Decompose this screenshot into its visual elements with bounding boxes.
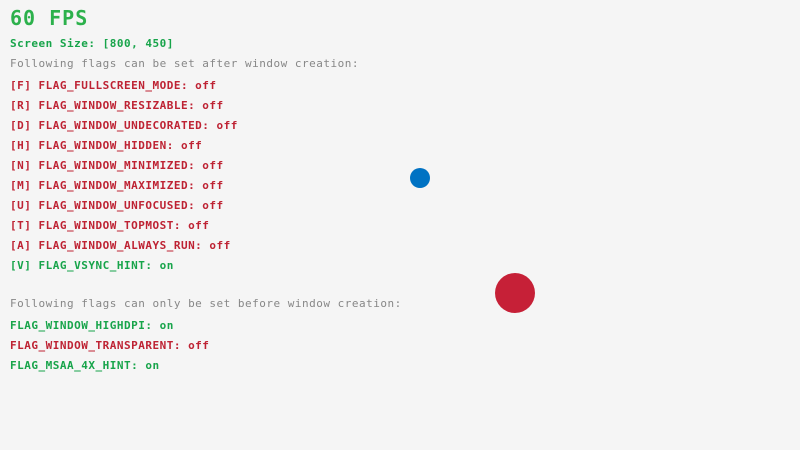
flag-row-flag-window-resizable[interactable]: [R] FLAG_WINDOW_RESIZABLE: off bbox=[10, 100, 224, 111]
fps-counter: 60 FPS bbox=[10, 8, 88, 28]
flag-row-flag-window-topmost[interactable]: [T] FLAG_WINDOW_TOPMOST: off bbox=[10, 220, 209, 231]
flag-row-flag-window-minimized[interactable]: [N] FLAG_WINDOW_MINIMIZED: off bbox=[10, 160, 224, 171]
flag-row-flag-window-maximized[interactable]: [M] FLAG_WINDOW_MAXIMIZED: off bbox=[10, 180, 224, 191]
flag-row-flag-window-undecorated[interactable]: [D] FLAG_WINDOW_UNDECORATED: off bbox=[10, 120, 238, 131]
flag-row-flag-msaa-4x-hint[interactable]: FLAG_MSAA_4X_HINT: on bbox=[10, 360, 160, 371]
raylib-window: 60 FPS Screen Size: [800, 450] Following… bbox=[0, 0, 800, 450]
flag-row-flag-fullscreen-mode[interactable]: [F] FLAG_FULLSCREEN_MODE: off bbox=[10, 80, 217, 91]
flag-row-flag-window-unfocused[interactable]: [U] FLAG_WINDOW_UNFOCUSED: off bbox=[10, 200, 224, 211]
screen-size-label: Screen Size: [800, 450] bbox=[10, 38, 174, 49]
section-header-before-creation: Following flags can only be set before w… bbox=[10, 298, 402, 309]
flag-row-flag-window-highdpi[interactable]: FLAG_WINDOW_HIGHDPI: on bbox=[10, 320, 174, 331]
section-header-after-creation: Following flags can be set after window … bbox=[10, 58, 359, 69]
flag-row-flag-window-hidden[interactable]: [H] FLAG_WINDOW_HIDDEN: off bbox=[10, 140, 202, 151]
blue-ball bbox=[410, 168, 430, 188]
red-ball bbox=[495, 273, 535, 313]
flag-row-flag-window-always-run[interactable]: [A] FLAG_WINDOW_ALWAYS_RUN: off bbox=[10, 240, 231, 251]
flag-row-flag-window-transparent[interactable]: FLAG_WINDOW_TRANSPARENT: off bbox=[10, 340, 209, 351]
flag-row-flag-vsync-hint[interactable]: [V] FLAG_VSYNC_HINT: on bbox=[10, 260, 174, 271]
